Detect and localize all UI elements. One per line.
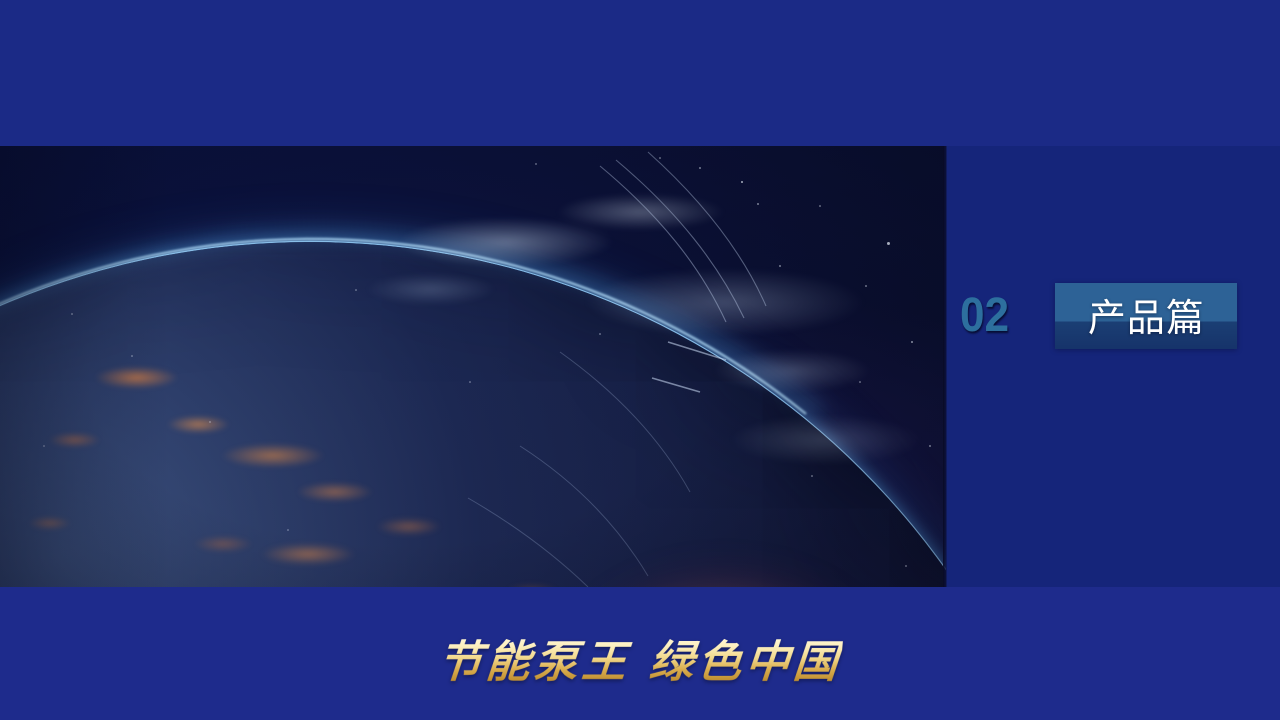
slogan-text: 节能泵王 绿色中国	[436, 636, 844, 690]
section-number: 02	[960, 292, 1009, 340]
section-title-box: 产品篇	[1055, 283, 1237, 349]
header-band	[0, 0, 1280, 146]
section-panel	[946, 146, 1280, 587]
earth-from-space-photo	[0, 146, 946, 587]
image-panel-divider	[943, 146, 947, 587]
section-title: 产品篇	[1088, 297, 1205, 339]
image-vignette	[0, 146, 946, 587]
section-heading-group: 02 产品篇	[946, 281, 1280, 351]
slide-root: 02 产品篇 CNP 南方泵业 节能泵王 绿色中国	[0, 0, 1280, 720]
slogan: 节能泵王 绿色中国	[0, 636, 1280, 690]
